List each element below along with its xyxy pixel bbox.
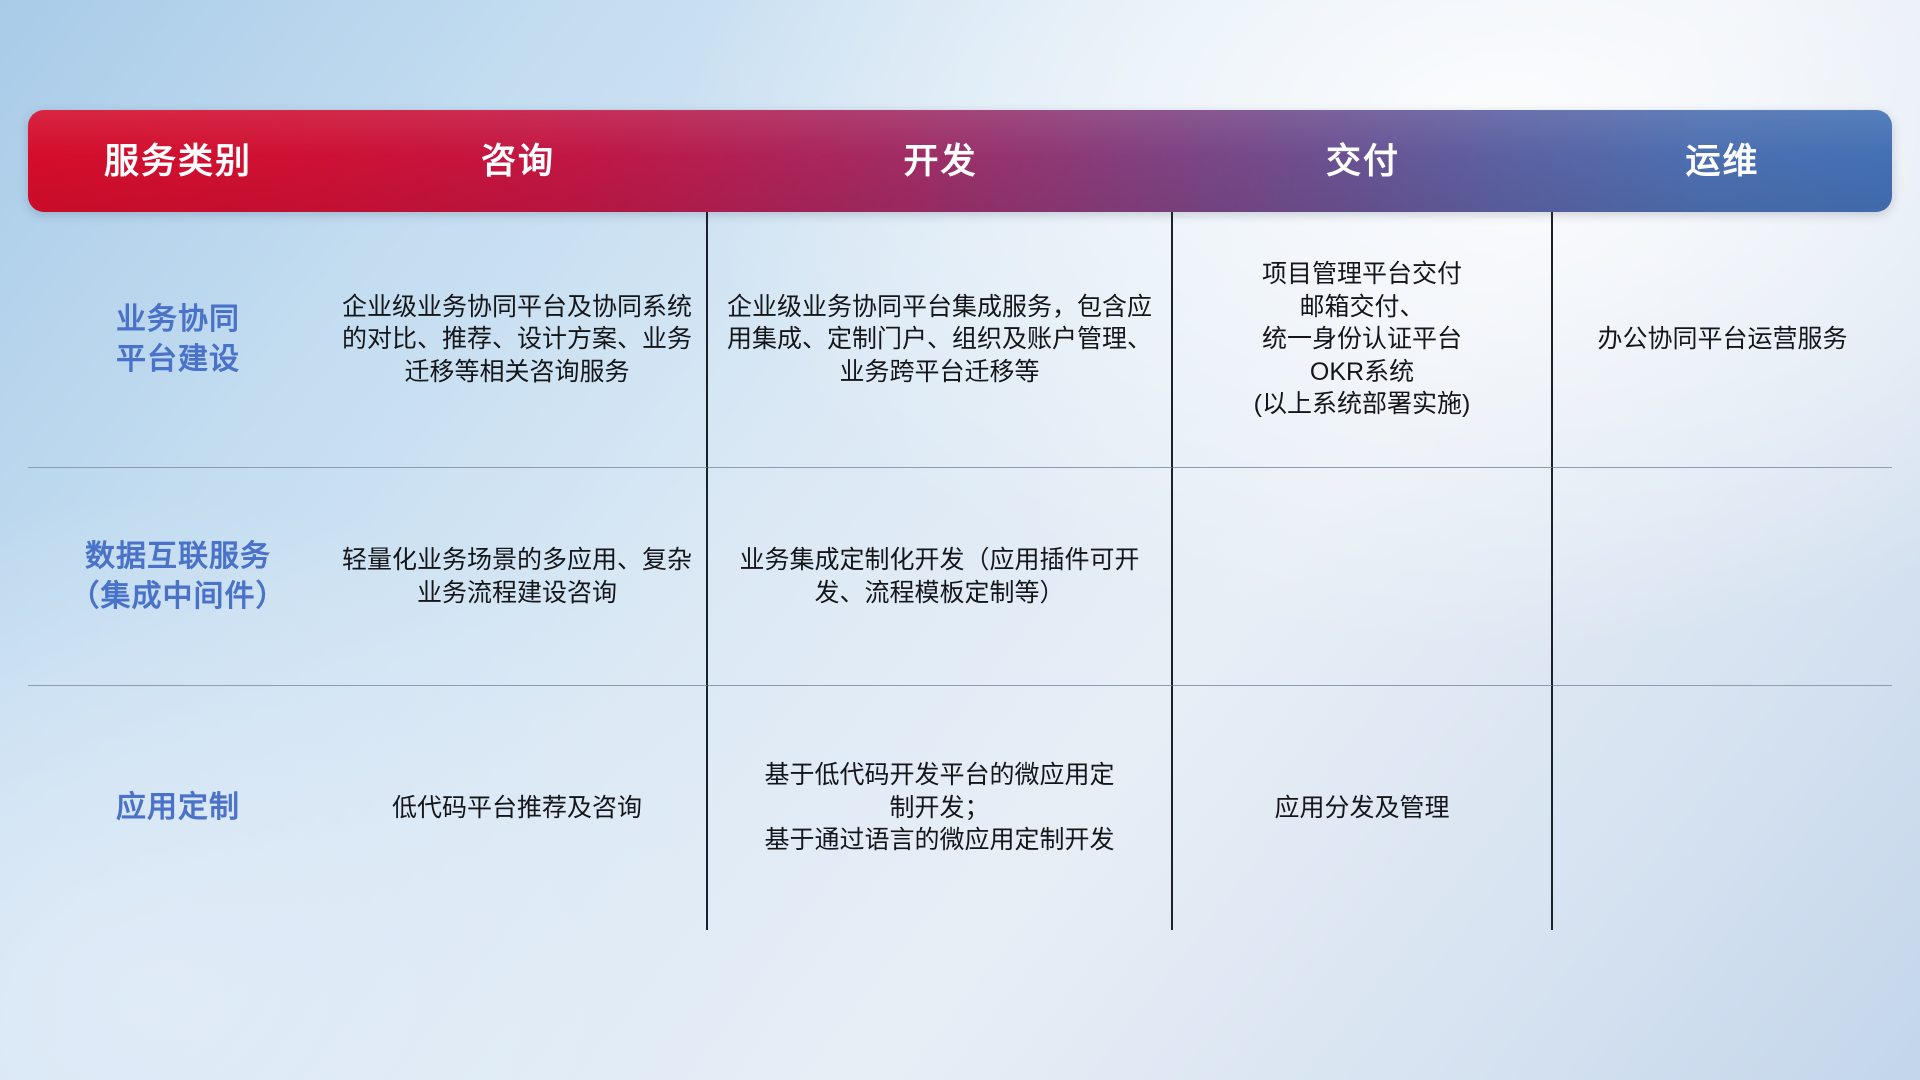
row-label-line: 业务协同 bbox=[116, 300, 240, 340]
cell-text-block: 项目管理平台交付 邮箱交付、 统一身份认证平台 OKR系统 (以上系统部署实施) bbox=[1254, 258, 1471, 421]
table-row: 应用定制 低代码平台推荐及咨询 基于低代码开发平台的微应用定 制开发； 基于通过… bbox=[28, 685, 1892, 930]
column-header-category: 服务类别 bbox=[28, 110, 328, 212]
cell-text-line: 统一身份认证平台 bbox=[1254, 323, 1471, 356]
table-header-row: 服务类别 咨询 开发 交付 运维 bbox=[28, 110, 1892, 212]
row-label-app-customization: 应用定制 bbox=[116, 788, 240, 828]
row-label-cell: 应用定制 bbox=[28, 685, 328, 930]
cell-operations bbox=[1553, 467, 1892, 685]
column-header-operations: 运维 bbox=[1553, 110, 1892, 212]
column-header-delivery: 交付 bbox=[1173, 110, 1553, 212]
cell-text-line: OKR系统 bbox=[1254, 356, 1471, 389]
cell-operations: 办公协同平台运营服务 bbox=[1553, 212, 1892, 467]
cell-development: 业务集成定制化开发（应用插件可开发、流程模板定制等） bbox=[708, 467, 1173, 685]
cell-delivery: 项目管理平台交付 邮箱交付、 统一身份认证平台 OKR系统 (以上系统部署实施) bbox=[1173, 212, 1553, 467]
row-label-cell: 数据互联服务 （集成中间件） bbox=[28, 467, 328, 685]
cell-text-line: (以上系统部署实施) bbox=[1254, 388, 1471, 421]
row-label-cell: 业务协同 平台建设 bbox=[28, 212, 328, 467]
cell-text: 办公协同平台运营服务 bbox=[1597, 323, 1847, 356]
cell-text-block: 基于低代码开发平台的微应用定 制开发； 基于通过语言的微应用定制开发 bbox=[764, 759, 1114, 857]
cell-text: 低代码平台推荐及咨询 bbox=[392, 792, 642, 825]
cell-text: 应用分发及管理 bbox=[1274, 792, 1449, 825]
column-header-development: 开发 bbox=[708, 110, 1173, 212]
cell-operations bbox=[1553, 685, 1892, 930]
cell-consulting: 企业级业务协同平台及协同系统的对比、推荐、设计方案、业务迁移等相关咨询服务 bbox=[328, 212, 708, 467]
row-label-line: 数据互联服务 bbox=[70, 537, 287, 577]
table-body: 业务协同 平台建设 企业级业务协同平台及协同系统的对比、推荐、设计方案、业务迁移… bbox=[28, 212, 1892, 930]
row-label-line: 应用定制 bbox=[116, 788, 240, 828]
cell-delivery: 应用分发及管理 bbox=[1173, 685, 1553, 930]
table-row: 业务协同 平台建设 企业级业务协同平台及协同系统的对比、推荐、设计方案、业务迁移… bbox=[28, 212, 1892, 467]
column-header-consulting: 咨询 bbox=[328, 110, 708, 212]
cell-text: 业务集成定制化开发（应用插件可开发、流程模板定制等） bbox=[722, 544, 1157, 609]
cell-text-line: 制开发； bbox=[764, 792, 1114, 825]
cell-text: 企业级业务协同平台集成服务，包含应用集成、定制门户、组织及账户管理、业务跨平台迁… bbox=[722, 291, 1157, 389]
cell-text-line: 基于通过语言的微应用定制开发 bbox=[764, 824, 1114, 857]
cell-text-line: 基于低代码开发平台的微应用定 bbox=[764, 759, 1114, 792]
cell-text: 企业级业务协同平台及协同系统的对比、推荐、设计方案、业务迁移等相关咨询服务 bbox=[342, 291, 692, 389]
cell-text-line: 邮箱交付、 bbox=[1254, 291, 1471, 324]
row-label-data-interconnect: 数据互联服务 （集成中间件） bbox=[70, 537, 287, 616]
cell-consulting: 低代码平台推荐及咨询 bbox=[328, 685, 708, 930]
row-label-line: （集成中间件） bbox=[70, 577, 287, 617]
row-label-line: 平台建设 bbox=[116, 340, 240, 380]
service-matrix-table: 服务类别 咨询 开发 交付 运维 业务协同 平台建设 企业级业务协同平台及协同系… bbox=[28, 110, 1892, 970]
cell-text-line: 项目管理平台交付 bbox=[1254, 258, 1471, 291]
cell-text: 轻量化业务场景的多应用、复杂业务流程建设咨询 bbox=[342, 544, 692, 609]
cell-consulting: 轻量化业务场景的多应用、复杂业务流程建设咨询 bbox=[328, 467, 708, 685]
cell-development: 基于低代码开发平台的微应用定 制开发； 基于通过语言的微应用定制开发 bbox=[708, 685, 1173, 930]
slide-canvas: 服务类别 咨询 开发 交付 运维 业务协同 平台建设 企业级业务协同平台及协同系… bbox=[0, 0, 1920, 1080]
cell-development: 企业级业务协同平台集成服务，包含应用集成、定制门户、组织及账户管理、业务跨平台迁… bbox=[708, 212, 1173, 467]
table-row: 数据互联服务 （集成中间件） 轻量化业务场景的多应用、复杂业务流程建设咨询 业务… bbox=[28, 467, 1892, 685]
row-label-business-collaboration: 业务协同 平台建设 bbox=[116, 300, 240, 379]
cell-delivery bbox=[1173, 467, 1553, 685]
